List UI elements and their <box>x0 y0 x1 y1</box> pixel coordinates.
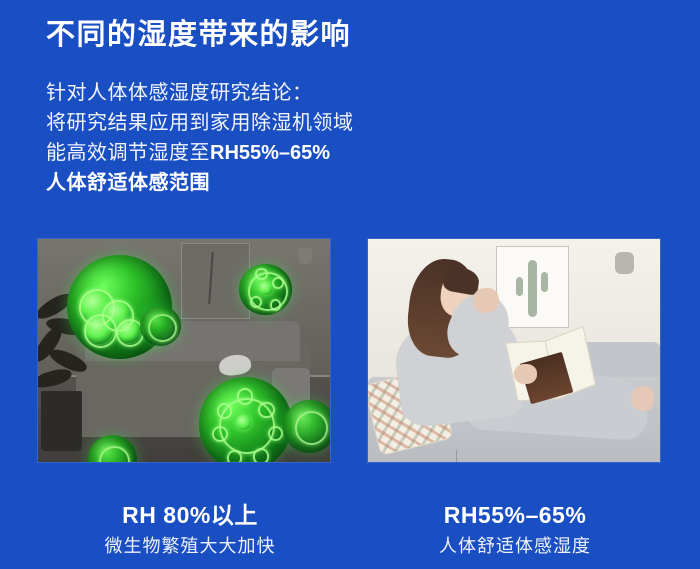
hand-holding-book <box>514 364 537 384</box>
humidity-effect-poster: 不同的湿度带来的影响 针对人体体感湿度研究结论： 将研究结果应用到家用除湿机领域… <box>0 0 700 569</box>
caption-right-title: RH55%–65% <box>365 501 665 529</box>
wall-speaker <box>298 248 312 264</box>
caption-right-subtitle: 人体舒适体感湿度 <box>365 534 665 558</box>
photo-panel-germs <box>38 239 330 462</box>
body-copy-block: 针对人体体感湿度研究结论： 将研究结果应用到家用除湿机领域 能高效调节湿度至RH… <box>46 78 476 198</box>
plant-pot <box>41 391 82 451</box>
caption-left: RH 80%以上 微生物繁殖大大加快 <box>40 501 340 558</box>
page-title: 不同的湿度带来的影响 <box>46 17 351 53</box>
dim-living-room-scene <box>38 239 330 462</box>
body-line-2: 将研究结果应用到家用除湿机领域 <box>46 108 476 138</box>
germ-ring <box>295 411 328 445</box>
germ-sphere-small <box>239 264 292 315</box>
germ-ring <box>272 277 284 289</box>
germ-ring <box>84 314 117 347</box>
branch-artwork <box>208 252 214 304</box>
body-line-4: 人体舒适体感范围 <box>46 168 476 198</box>
germ-sphere-lower-right <box>283 400 330 454</box>
germ-sphere-bottom <box>199 377 292 462</box>
germ-ring <box>268 426 283 441</box>
germ-ring <box>148 314 177 342</box>
germ-ring <box>99 446 131 462</box>
body-line-3: 能高效调节湿度至RH55%–65% <box>46 138 476 168</box>
germ-ring <box>255 268 267 280</box>
body-line-1: 针对人体体感湿度研究结论： <box>46 78 476 108</box>
germ-ring <box>237 388 253 404</box>
germ-ring <box>250 296 262 308</box>
caption-left-subtitle: 微生物繁殖大大加快 <box>40 534 340 558</box>
germ-sphere-edge <box>140 306 181 346</box>
leaf <box>38 367 73 390</box>
body-line-3-prefix: 能高效调节湿度至 <box>46 142 210 164</box>
photo-panel-comfort <box>368 239 660 462</box>
woman-reading <box>368 239 660 462</box>
germ-ring <box>270 299 281 310</box>
body-line-3-humidity-range: RH55%–65% <box>210 142 330 164</box>
germ-ring <box>212 426 228 442</box>
germ-ring <box>258 402 274 418</box>
caption-right: RH55%–65% 人体舒适体感湿度 <box>365 501 665 558</box>
foot <box>631 386 654 411</box>
bright-living-room-scene <box>368 239 660 462</box>
germ-ring <box>227 450 242 462</box>
caption-left-title: RH 80%以上 <box>40 501 340 529</box>
germ-ring <box>253 448 269 462</box>
